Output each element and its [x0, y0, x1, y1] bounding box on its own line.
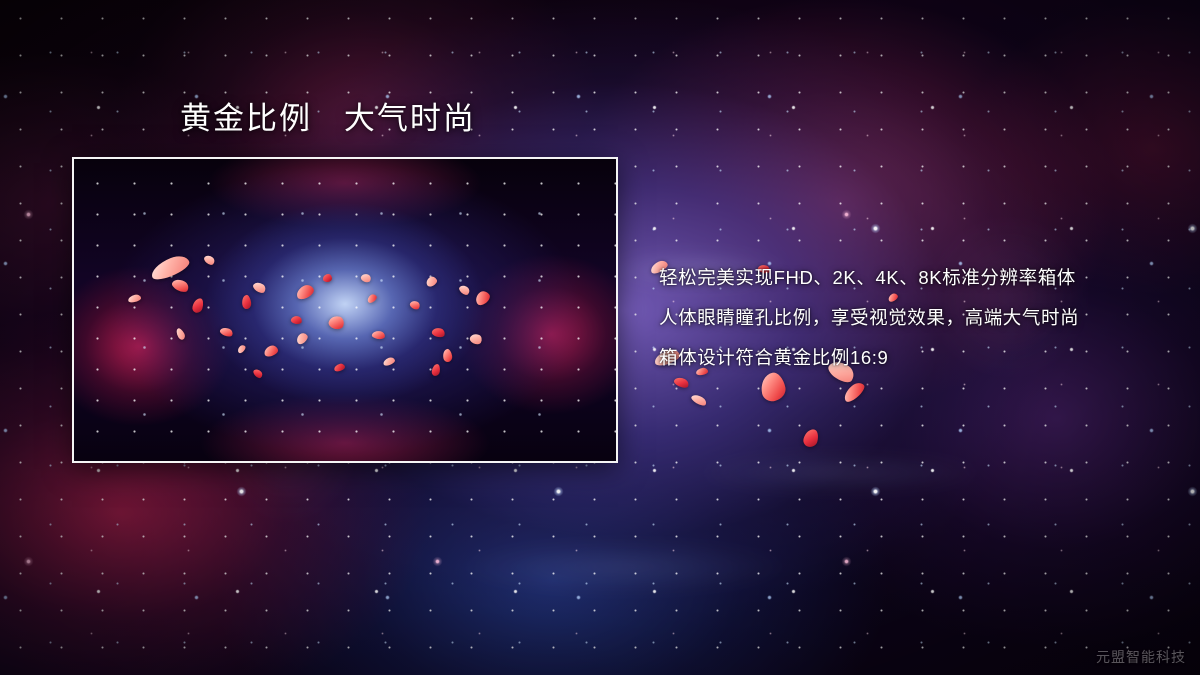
body-line-3: 箱体设计符合黄金比例16:9 [659, 338, 1159, 378]
photo-nebula-image [74, 159, 616, 461]
watermark: 元盟智能科技 [1096, 647, 1186, 667]
presentation-slide: 黄金比例 大气时尚 轻松完美实现FHD、2K、4K、8K标准分辨率箱体 人体眼睛… [0, 0, 1200, 675]
body-line-2: 人体眼睛瞳孔比例，享受视觉效果，高端大气时尚 [659, 298, 1159, 338]
body-copy: 轻松完美实现FHD、2K、4K、8K标准分辨率箱体 人体眼睛瞳孔比例，享受视觉效… [659, 258, 1159, 378]
body-line-1: 轻松完美实现FHD、2K、4K、8K标准分辨率箱体 [659, 258, 1159, 298]
framed-photo [72, 157, 618, 463]
page-title: 黄金比例 大气时尚 [180, 100, 476, 139]
